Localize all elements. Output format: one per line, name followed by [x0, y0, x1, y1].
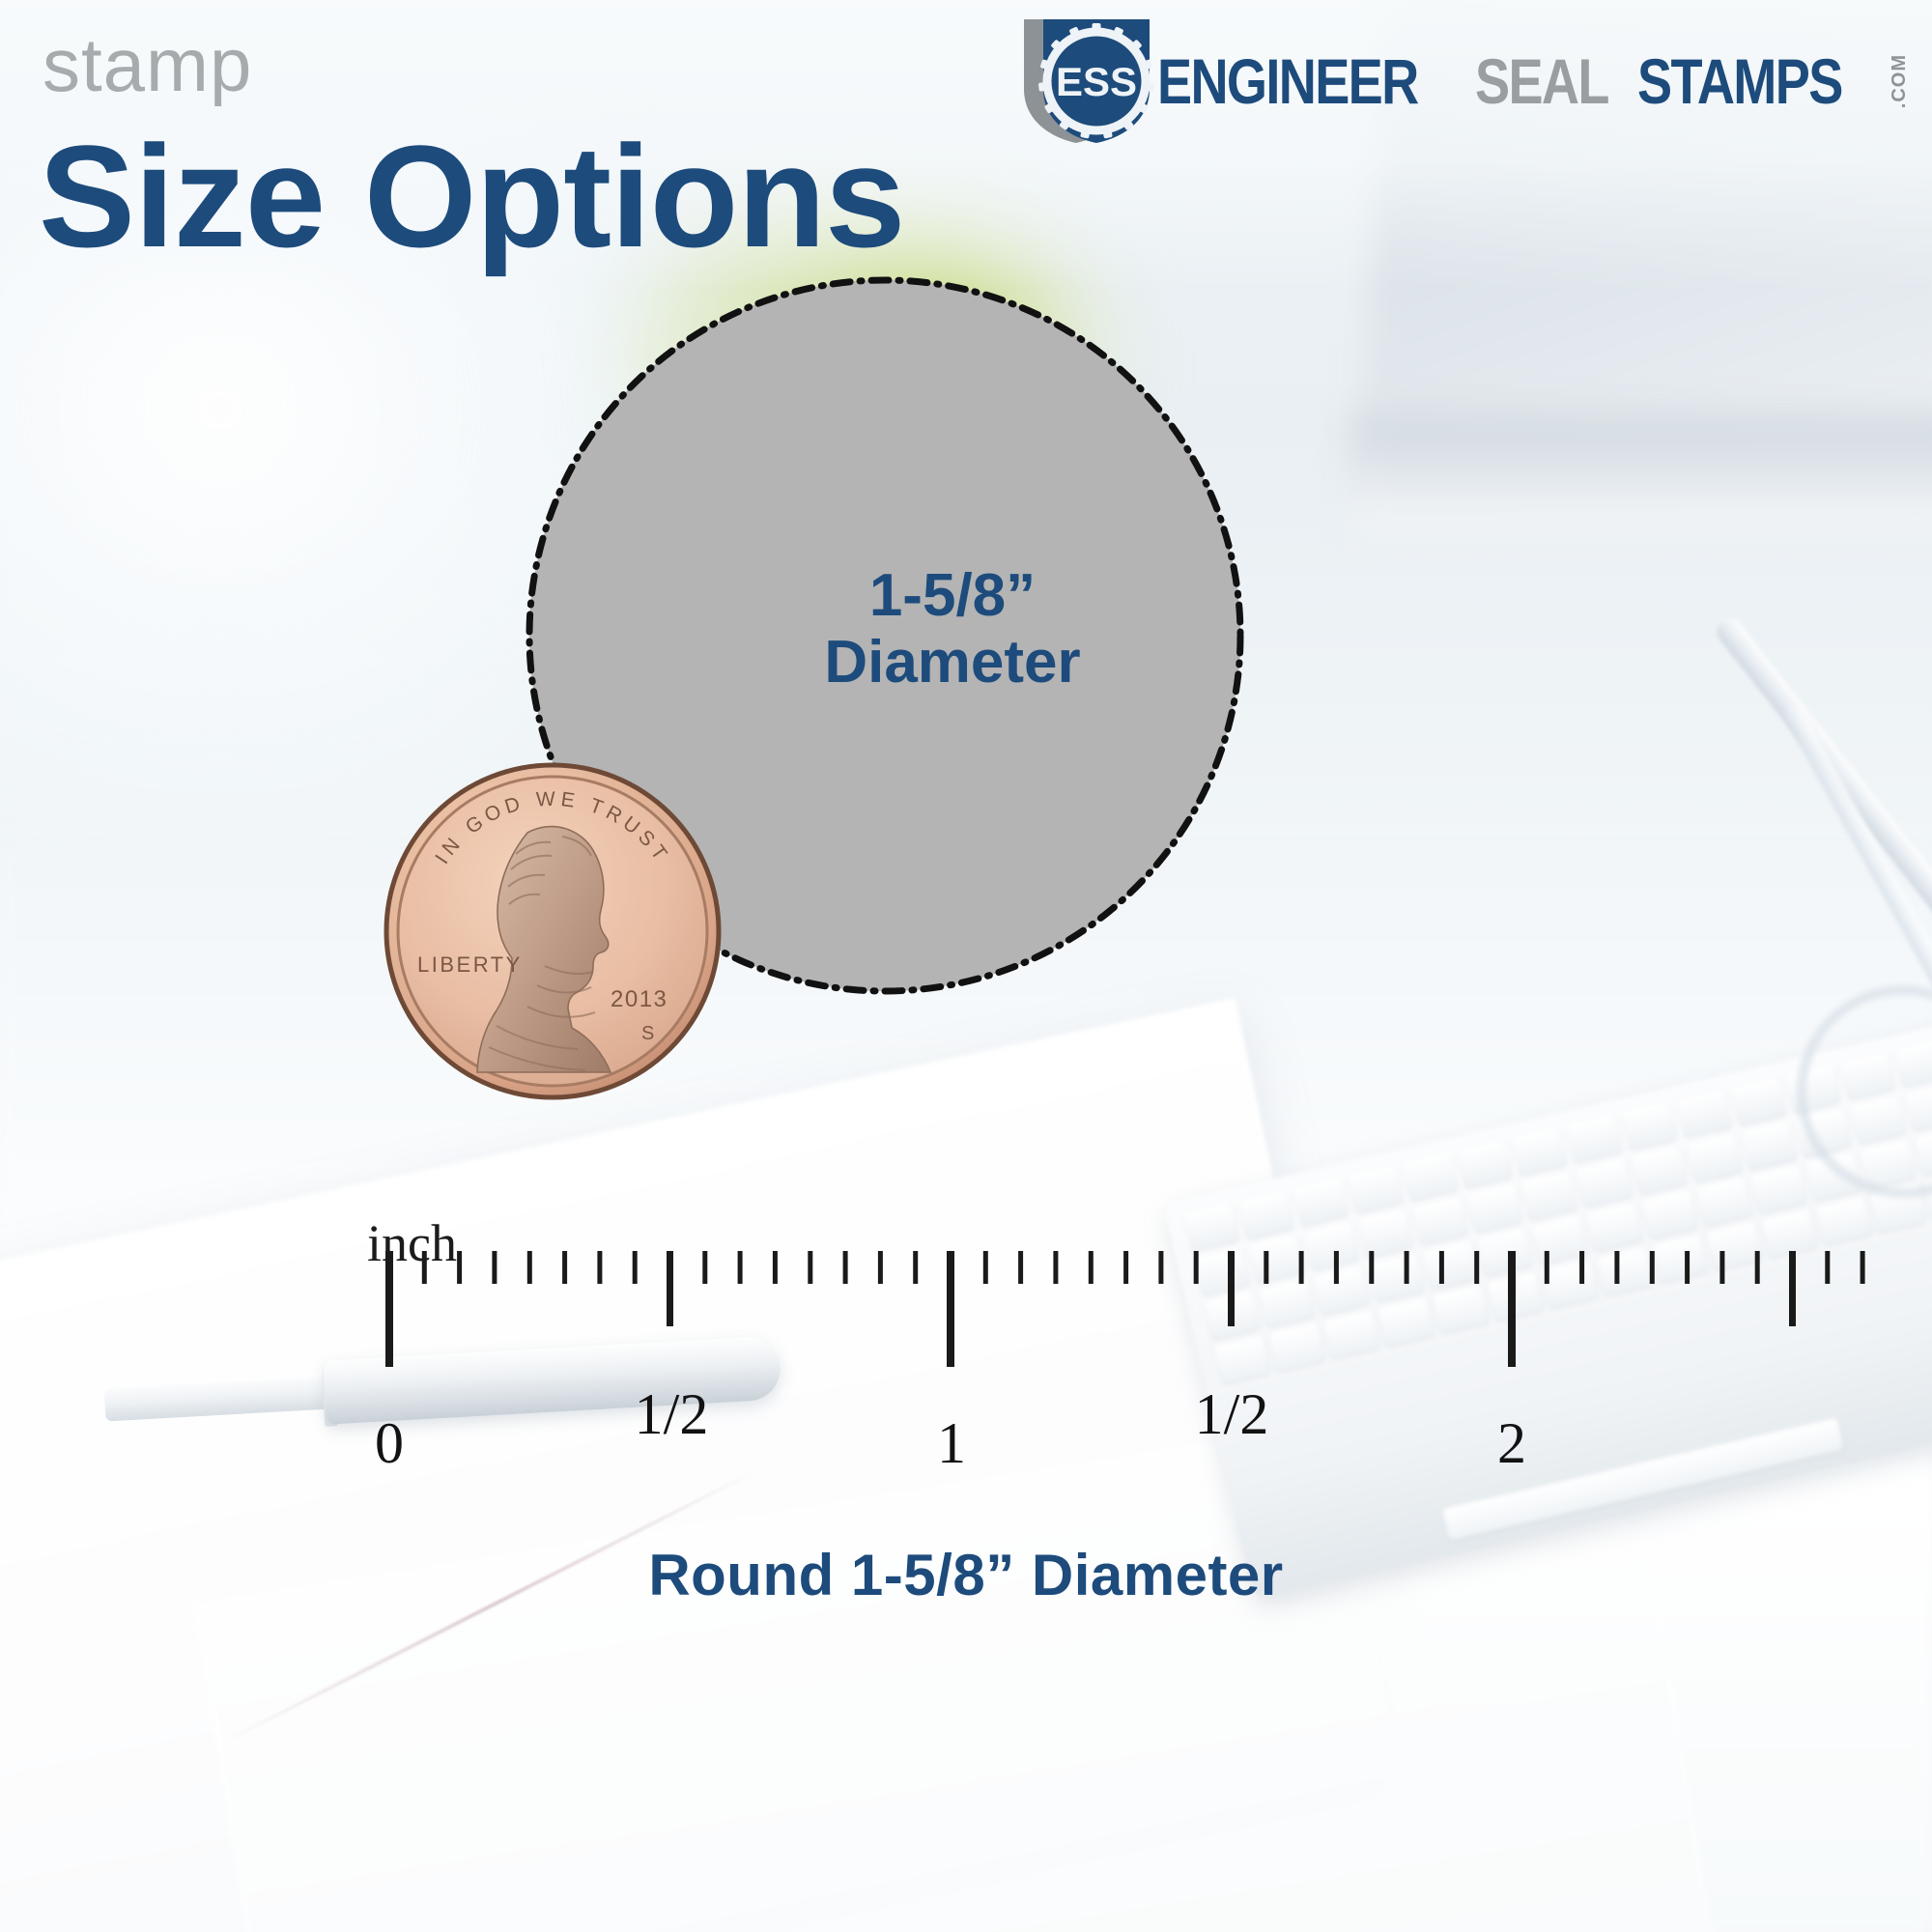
ruler-major-tick [947, 1251, 954, 1367]
keyboard-key [1686, 1133, 1743, 1181]
ess-badge-text: ESS [1056, 59, 1137, 104]
ruler-minor-tick [1369, 1251, 1374, 1284]
ruler-minor-tick [1685, 1251, 1690, 1284]
keyboard-key [1631, 1146, 1688, 1194]
ruler-minor-tick [633, 1251, 638, 1284]
ruler-minor-tick [1650, 1251, 1655, 1284]
ruler-half-tick [1228, 1251, 1235, 1326]
ruler-minor-tick [1194, 1251, 1199, 1284]
size-options-graphic: stamp Size Options [0, 0, 1932, 1932]
ruler-tick-label: 1/2 [635, 1381, 709, 1448]
ruler-half-tick [1789, 1251, 1796, 1326]
ruler-minor-tick [1053, 1251, 1058, 1284]
ruler-minor-tick [527, 1251, 532, 1284]
ruler-minor-tick [808, 1251, 812, 1284]
ruler-minor-tick [562, 1251, 567, 1284]
inch-ruler [0, 1212, 1932, 1502]
coin-mint-mark-text: S [641, 1023, 654, 1044]
ruler-minor-tick [1018, 1251, 1023, 1284]
ruler-minor-tick [1123, 1251, 1128, 1284]
ruler-minor-tick [1299, 1251, 1304, 1284]
ruler-minor-tick [457, 1251, 462, 1284]
ruler-minor-tick [1405, 1251, 1409, 1284]
ruler-minor-tick [1861, 1251, 1865, 1284]
ruler-minor-tick [702, 1251, 707, 1284]
ruler-minor-tick [1755, 1251, 1760, 1284]
wordmark-tld: .COM [1889, 54, 1911, 108]
ruler-minor-tick [492, 1251, 497, 1284]
penny-reference-coin: IN GOD WE TRUST LIBERTY 2013 S [383, 761, 723, 1101]
ruler-tick-label: 1 [937, 1410, 966, 1477]
ruler-minor-tick [1089, 1251, 1094, 1284]
coin-year-text: 2013 [611, 986, 668, 1012]
keyboard-key [1750, 1165, 1807, 1213]
eyebrow-label: stamp [43, 27, 252, 102]
ess-shield-gear-icon: ESS [1014, 14, 1157, 149]
ruler-minor-tick [1158, 1251, 1163, 1284]
brand-logo[interactable]: ESS ENGINEER SEAL STAMPS .COM [1014, 14, 1911, 149]
ruler-minor-tick [1825, 1251, 1830, 1284]
ruler-minor-tick [1614, 1251, 1619, 1284]
ruler-minor-tick [597, 1251, 602, 1284]
ruler-minor-tick [1474, 1251, 1479, 1284]
wordmark-stamps: STAMPS [1637, 49, 1842, 113]
ruler-minor-tick [1264, 1251, 1268, 1284]
ruler-minor-tick [1334, 1251, 1339, 1284]
coin-liberty-text: LIBERTY [417, 952, 523, 977]
brand-wordmark: ENGINEER SEAL STAMPS [1157, 14, 1887, 149]
ruler-tick-label: 1/2 [1195, 1381, 1269, 1448]
bottom-caption: Round 1-5/8” Diameter [0, 1542, 1932, 1608]
ruler-minor-tick [773, 1251, 778, 1284]
ruler-minor-tick [738, 1251, 743, 1284]
page-title: Size Options [39, 124, 904, 269]
wordmark-engineer: ENGINEER [1157, 49, 1418, 113]
ruler-minor-tick [1579, 1251, 1584, 1284]
ruler-minor-tick [913, 1251, 918, 1284]
ruler-minor-tick [843, 1251, 848, 1284]
ruler-major-tick [1508, 1251, 1516, 1367]
keyboard-key [1577, 1158, 1634, 1207]
ruler-tick-label: 2 [1497, 1410, 1526, 1477]
monitor-edge-blur [1352, 415, 1932, 531]
ruler-minor-tick [983, 1251, 988, 1284]
keyboard-key [1740, 1121, 1797, 1169]
ruler-tick-label: 0 [375, 1410, 404, 1477]
wordmark-seal: SEAL [1475, 49, 1608, 113]
ruler-minor-tick [1719, 1251, 1724, 1284]
ruler-minor-tick [1545, 1251, 1549, 1284]
ruler-half-tick [667, 1251, 673, 1326]
ruler-minor-tick [878, 1251, 883, 1284]
ruler-minor-tick [1439, 1251, 1444, 1284]
ruler-unit-label: inch [367, 1213, 457, 1273]
